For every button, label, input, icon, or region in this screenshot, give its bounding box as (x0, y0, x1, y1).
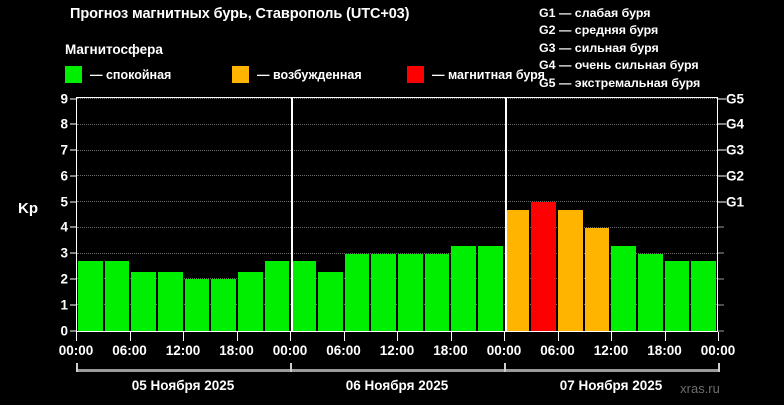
g-axis-tick-g3 (718, 150, 726, 151)
bar[interactable] (558, 210, 583, 331)
y-tick-label-6: 6 (42, 168, 68, 183)
y-tick-label-3: 3 (42, 246, 68, 261)
x-time-label: 12:00 (380, 343, 415, 358)
y-tick-label-1: 1 (42, 297, 68, 312)
bar[interactable] (158, 272, 183, 331)
g-axis-minor-tick (718, 227, 724, 228)
y-tick-label-0: 0 (42, 323, 68, 338)
bar[interactable] (318, 272, 343, 331)
bar[interactable] (451, 246, 476, 331)
g-axis-minor-tick (718, 278, 724, 279)
x-tick-mark (451, 332, 452, 341)
bar[interactable] (211, 279, 236, 331)
bar[interactable] (398, 254, 423, 331)
g-axis-tick-g5 (718, 98, 726, 99)
g-axis-label-g4: G4 (726, 117, 744, 132)
day-separator (291, 98, 293, 331)
g-axis-label-g2: G2 (726, 168, 744, 183)
y-tick-mark-9 (70, 98, 76, 99)
x-time-label: 00:00 (59, 343, 94, 358)
g-axis-tick-g2 (718, 175, 726, 176)
bar[interactable] (611, 246, 636, 331)
x-tick-mark (290, 332, 291, 341)
bar[interactable] (505, 210, 530, 331)
bar[interactable] (345, 254, 370, 331)
bar[interactable] (425, 254, 450, 331)
y-tick-mark-0 (70, 330, 76, 331)
y-tick-mark-1 (70, 304, 76, 305)
g-axis-minor-tick (718, 253, 724, 254)
kp-forecast-chart: Kp 0123456789 G1G2G3G4G5 00:0006:0012:00… (0, 0, 784, 405)
y-tick-mark-7 (70, 150, 76, 151)
y-tick-mark-5 (70, 201, 76, 202)
x-tick-mark (665, 332, 666, 341)
x-time-label: 18:00 (219, 343, 254, 358)
bar[interactable] (691, 261, 716, 331)
g-axis-minor-tick (718, 304, 724, 305)
x-tick-mark (611, 332, 612, 341)
x-tick-mark (344, 332, 345, 341)
x-time-label: 12:00 (166, 343, 201, 358)
y-tick-label-8: 8 (42, 117, 68, 132)
bar[interactable] (371, 254, 396, 331)
y-axis-labels: 0123456789 (38, 97, 68, 332)
x-time-label: 12:00 (594, 343, 629, 358)
x-time-label: 18:00 (433, 343, 468, 358)
g-axis-label-g5: G5 (726, 91, 744, 106)
g-axis-label-g3: G3 (726, 143, 744, 158)
y-tick-label-7: 7 (42, 143, 68, 158)
g-axis-minor-tick (718, 330, 724, 331)
x-tick-mark (504, 332, 505, 341)
plot-area (76, 97, 718, 332)
day-label: 06 Ноября 2025 (346, 378, 449, 393)
bar[interactable] (665, 261, 690, 331)
y-tick-mark-3 (70, 253, 76, 254)
day-separator (505, 98, 507, 331)
bar[interactable] (78, 261, 103, 331)
bar[interactable] (531, 202, 556, 331)
x-time-label: 00:00 (273, 343, 308, 358)
bar[interactable] (478, 246, 503, 331)
bar[interactable] (238, 272, 263, 331)
x-time-label: 06:00 (326, 343, 361, 358)
y-tick-label-4: 4 (42, 220, 68, 235)
x-tick-mark (183, 332, 184, 341)
y-axis-title: Kp (18, 200, 38, 217)
x-time-label: 18:00 (647, 343, 682, 358)
bar[interactable] (105, 261, 130, 331)
bar[interactable] (131, 272, 156, 331)
x-time-label: 00:00 (701, 343, 736, 358)
day-rule (76, 369, 290, 372)
bar[interactable] (185, 279, 210, 331)
g-axis-label-g1: G1 (726, 194, 744, 209)
day-label: 05 Ноября 2025 (132, 378, 235, 393)
x-tick-mark (130, 332, 131, 341)
g-axis-tick-g1 (718, 201, 726, 202)
day-rule-cap (504, 363, 506, 372)
y-tick-mark-4 (70, 227, 76, 228)
x-tick-mark (558, 332, 559, 341)
x-time-label: 06:00 (540, 343, 575, 358)
bar-series (77, 98, 717, 331)
x-tick-mark (397, 332, 398, 341)
g-axis-labels: G1G2G3G4G5 (726, 97, 770, 332)
y-tick-label-9: 9 (42, 91, 68, 106)
x-tick-mark (76, 332, 77, 341)
day-label: 07 Ноября 2025 (560, 378, 663, 393)
x-tick-mark (237, 332, 238, 341)
x-time-label: 06:00 (112, 343, 147, 358)
day-rule (504, 369, 718, 372)
x-time-label: 00:00 (487, 343, 522, 358)
watermark: xras.ru (680, 381, 720, 396)
bar[interactable] (265, 261, 290, 331)
y-tick-label-2: 2 (42, 271, 68, 286)
y-tick-mark-2 (70, 278, 76, 279)
bar[interactable] (585, 228, 610, 331)
day-rule-cap (718, 363, 720, 372)
g-axis-tick-g4 (718, 124, 726, 125)
day-rule (290, 369, 504, 372)
bar[interactable] (638, 254, 663, 331)
y-tick-label-5: 5 (42, 194, 68, 209)
day-rule-cap (76, 363, 78, 372)
day-rule-cap (290, 363, 292, 372)
y-tick-mark-6 (70, 175, 76, 176)
y-tick-mark-8 (70, 124, 76, 125)
x-tick-mark (718, 332, 719, 341)
bar[interactable] (291, 261, 316, 331)
